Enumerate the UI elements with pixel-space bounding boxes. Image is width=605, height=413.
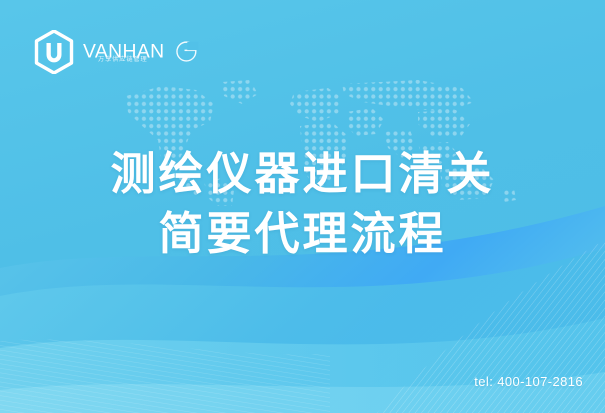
headline-line-1: 测绘仪器进口清关 <box>0 144 605 204</box>
brand-subtitle: 万享供应链管理 <box>98 57 148 63</box>
page-title: 测绘仪器进口清关 简要代理流程 <box>0 144 605 264</box>
brand-wordmark: VANHAN 万享供应链管理 <box>83 40 201 64</box>
contact-phone: tel: 400-107-2816 <box>474 374 583 389</box>
brand-logo[interactable]: VANHAN 万享供应链管理 <box>34 30 201 74</box>
diagonal-line-striations-left <box>0 327 330 413</box>
hexagon-u-logo-icon <box>34 30 74 74</box>
headline-line-2: 简要代理流程 <box>0 204 605 264</box>
poster-slide: VANHAN 万享供应链管理 测绘仪器进口清关 简要代理流程 tel: 400-… <box>0 0 605 413</box>
